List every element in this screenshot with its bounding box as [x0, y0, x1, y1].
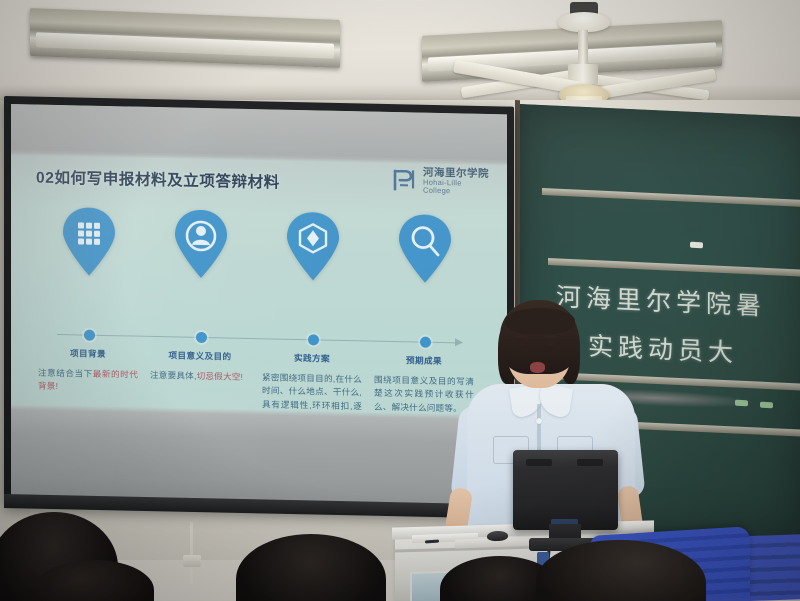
- column-body-highlight: 切忌假大空!: [197, 371, 244, 382]
- presenter-fringe: [505, 308, 575, 334]
- slide-column-2: 项目意义及目的 注意要具体,切忌假大空!: [144, 349, 256, 385]
- pin-marker-2: [173, 207, 229, 280]
- slide-title: 02如何写申报材料及立项答辩材料: [36, 166, 280, 193]
- college-logo: 河海里尔学院 Hohai-Lille College: [392, 166, 489, 196]
- chalk-piece: [735, 400, 748, 407]
- pin-marker-4: [397, 212, 453, 285]
- slide-pin-row: [11, 204, 507, 294]
- column-heading: 项目意义及目的: [144, 349, 256, 363]
- classroom-scene: 河海里尔学院暑 实践动员大 02如何写申报材料及立项答辩材料 河海里尔学院 Ho…: [0, 0, 800, 601]
- pin-marker-1: [61, 205, 117, 278]
- column-heading: 项目背景: [32, 346, 144, 360]
- computer-mouse[interactable]: [487, 531, 508, 542]
- chalk-piece: [760, 402, 773, 409]
- column-body-plain: 注意要具体,: [150, 370, 197, 381]
- monitor-vent: [577, 459, 603, 466]
- wall-conduit: [190, 522, 193, 584]
- timeline-dot: [308, 334, 319, 345]
- column-body: 注意要具体,切忌假大空!: [144, 369, 256, 385]
- presenter-mouth: [530, 362, 545, 373]
- pin-marker-3: [285, 210, 341, 283]
- monitor-vent: [526, 459, 552, 466]
- ceiling-fan-canopy: [558, 12, 610, 32]
- screen-lower-band: [11, 404, 507, 510]
- logo-text-en-2: College: [423, 186, 489, 195]
- grid-icon: [78, 222, 100, 244]
- presenter-eye: [547, 342, 554, 346]
- presenter-eyebrow: [517, 335, 528, 338]
- presenter-eyebrow: [545, 335, 556, 338]
- timeline-dot: [196, 332, 207, 343]
- column-body: 注意结合当下最新的时代背景!: [32, 366, 144, 395]
- timeline-line: [57, 334, 457, 344]
- hohai-lille-logo-icon: [392, 166, 418, 195]
- timeline-dot: [84, 330, 95, 341]
- column-body-plain: 注意结合当下: [38, 368, 93, 379]
- column-heading: 实践方案: [256, 351, 368, 365]
- chalk-piece: [690, 242, 703, 249]
- slide-column-1: 项目背景 注意结合当下最新的时代背景!: [32, 346, 144, 395]
- light-switch[interactable]: [183, 555, 201, 567]
- timeline-dot: [420, 337, 431, 348]
- presenter-button: [536, 418, 542, 424]
- slide-timeline: [57, 329, 467, 350]
- presenter-eye: [519, 342, 526, 346]
- projection-screen: 02如何写申报材料及立项答辩材料 河海里尔学院 Hohai-Lille Coll…: [11, 104, 507, 510]
